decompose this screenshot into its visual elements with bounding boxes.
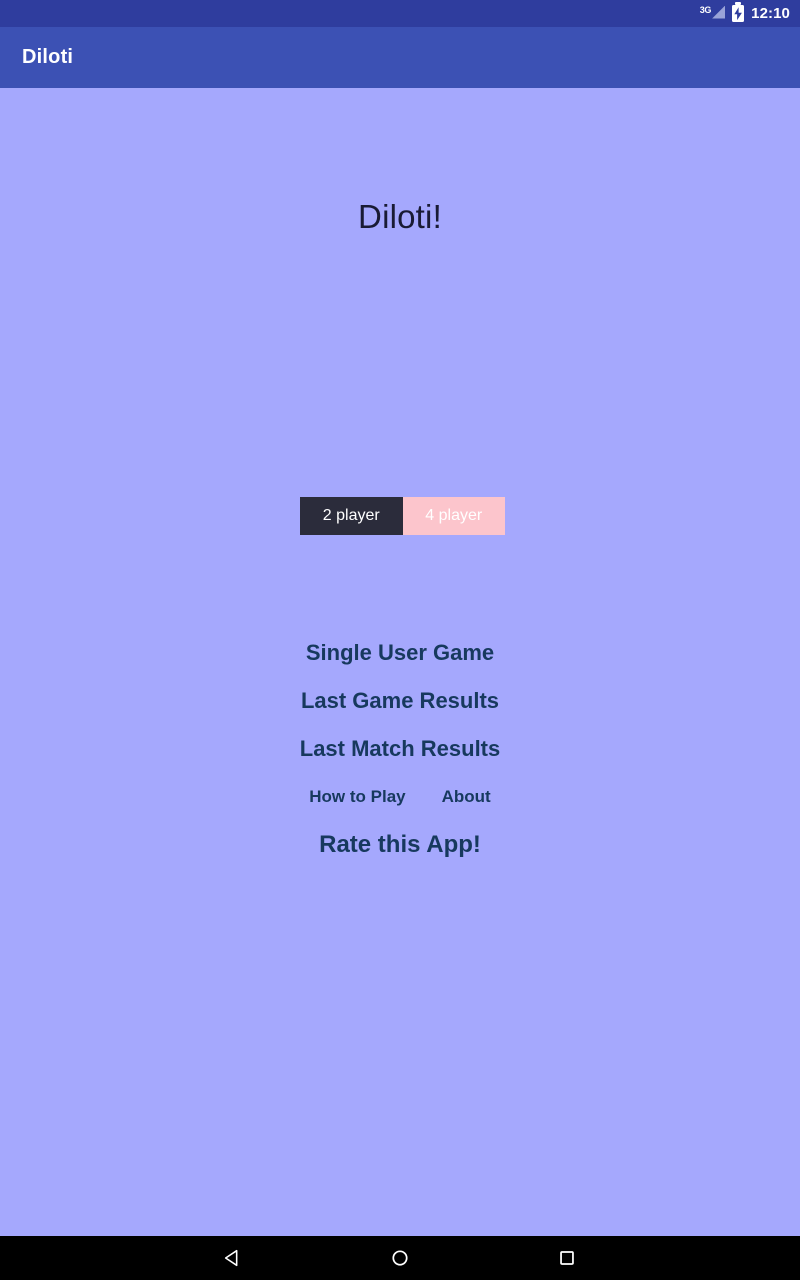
link-about[interactable]: About xyxy=(442,786,491,808)
network-type-label: 3G xyxy=(700,5,711,15)
toggle-2-player[interactable]: 2 player xyxy=(300,497,403,535)
app-bar-title: Diloti xyxy=(0,46,73,69)
recents-square-icon xyxy=(556,1247,578,1269)
page-title: Diloti! xyxy=(0,197,800,237)
player-count-toggle-group[interactable]: 2 player 4 player xyxy=(300,497,505,535)
nav-home-button[interactable] xyxy=(372,1236,428,1280)
link-last-match-results[interactable]: Last Match Results xyxy=(0,736,800,762)
battery-charging-icon xyxy=(732,5,744,22)
status-bar: 3G 12:10 xyxy=(0,0,800,27)
android-navigation-bar xyxy=(0,1236,800,1280)
link-single-user-game[interactable]: Single User Game xyxy=(0,640,800,666)
secondary-links-row: How to Play About xyxy=(0,786,800,808)
status-bar-clock: 12:10 xyxy=(751,0,790,27)
link-rate-this-app[interactable]: Rate this App! xyxy=(0,831,800,859)
signal-bars-icon xyxy=(712,6,725,19)
toggle-4-player[interactable]: 4 player xyxy=(403,497,506,535)
nav-back-button[interactable] xyxy=(205,1236,261,1280)
link-last-game-results[interactable]: Last Game Results xyxy=(0,688,800,714)
home-circle-icon xyxy=(389,1247,411,1269)
back-triangle-icon xyxy=(222,1247,244,1269)
app-bar: Diloti xyxy=(0,27,800,88)
signal-status: 3G xyxy=(700,5,725,23)
main-content: Diloti! 2 player 4 player Single User Ga… xyxy=(0,88,800,1236)
nav-recents-button[interactable] xyxy=(539,1236,595,1280)
link-how-to-play[interactable]: How to Play xyxy=(309,786,405,808)
